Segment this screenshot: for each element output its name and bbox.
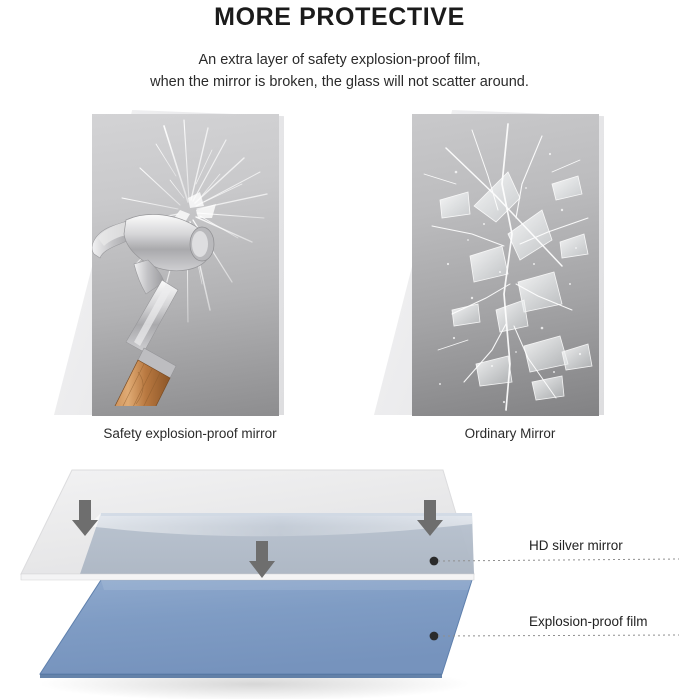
comparison-right: Ordinary Mirror: [360, 104, 660, 454]
shattered-glass-graphic: [412, 114, 599, 416]
comparison-left: Safety explosion-proof mirror: [40, 104, 340, 454]
ordinary-mirror-image: [412, 114, 599, 416]
hammer-icon: [92, 176, 236, 406]
page-title: MORE PROTECTIVE: [0, 2, 679, 32]
subtitle-line-2: when the mirror is broken, the glass wil…: [0, 71, 679, 93]
label-hd-silver-mirror: HD silver mirror: [529, 538, 623, 553]
callout-explosion-proof-film: [430, 632, 679, 641]
label-explosion-proof-film: Explosion-proof film: [529, 614, 648, 629]
explosion-proof-film-layer: [40, 580, 472, 678]
caption-safety-mirror: Safety explosion-proof mirror: [40, 426, 340, 441]
subtitle-line-1: An extra layer of safety explosion-proof…: [0, 49, 679, 71]
safety-mirror-image: [92, 114, 279, 416]
comparison-section: Safety explosion-proof mirror: [0, 104, 679, 454]
subtitle: An extra layer of safety explosion-proof…: [0, 49, 679, 93]
caption-ordinary-mirror: Ordinary Mirror: [360, 426, 660, 441]
layer-diagram: [0, 452, 679, 699]
header: MORE PROTECTIVE An extra layer of safety…: [0, 0, 679, 93]
